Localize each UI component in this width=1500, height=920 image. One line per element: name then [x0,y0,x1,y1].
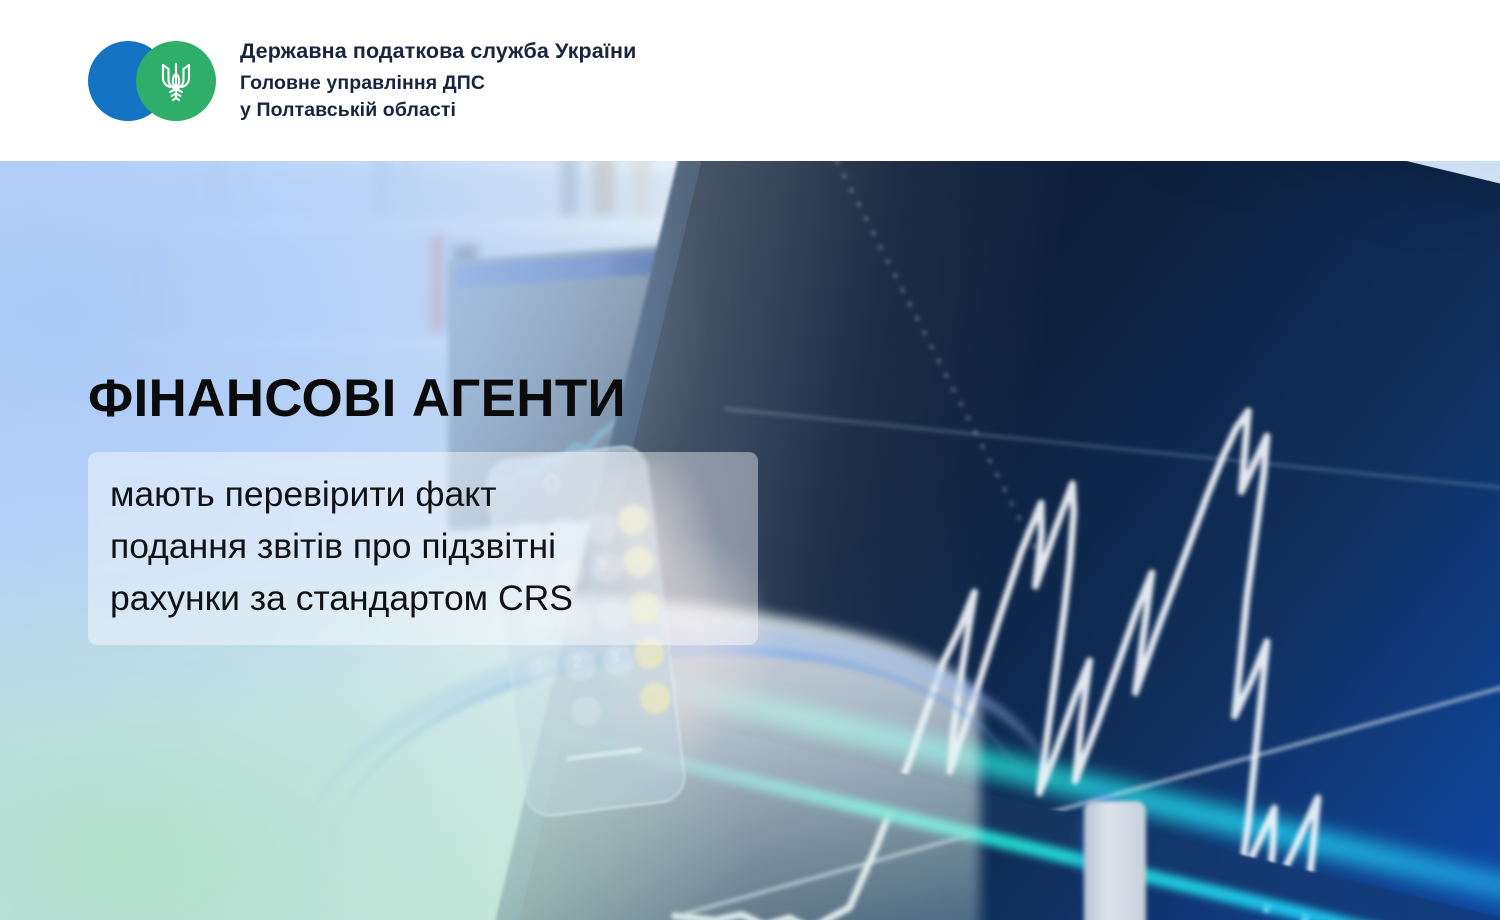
book [172,247,184,335]
hero-subtitle: мають перевірити факт подання звітів про… [110,468,750,624]
book [592,161,614,215]
green-circle-icon [136,41,216,121]
book [372,161,392,215]
shelf-top [150,161,710,171]
book [238,161,252,215]
monitor-stand-neck [1084,801,1146,920]
hero-subtitle-line: рахунки за стандартом CRS [110,572,750,624]
book [206,161,228,215]
logo-marks [88,41,216,121]
book [130,243,142,335]
book [400,161,416,215]
book [150,241,166,335]
site-header: Державна податкова служба України Головн… [0,0,1500,161]
org-name: Державна податкова служба України Головн… [240,41,636,121]
logo-block[interactable]: Державна податкова служба України Головн… [88,41,636,121]
hero-subtitle-line: подання звітів про підзвітні [110,520,750,572]
org-line-1: Державна податкова служба України [240,41,636,63]
ukrainian-trident-icon [157,58,195,104]
book [632,161,650,215]
shelf-mid [120,219,720,233]
hero-title: ФІНАНСОВІ АГЕНТИ [88,372,626,425]
book-red [430,235,444,333]
hero-subtitle-line: мають перевірити факт [110,468,750,520]
org-line-3: у Полтавській області [240,101,636,121]
banner-root: 0 7 8 9 1 2 3 [0,0,1500,920]
org-line-2: Головне управління ДПС [240,74,636,94]
book [560,161,578,215]
book [178,161,194,215]
